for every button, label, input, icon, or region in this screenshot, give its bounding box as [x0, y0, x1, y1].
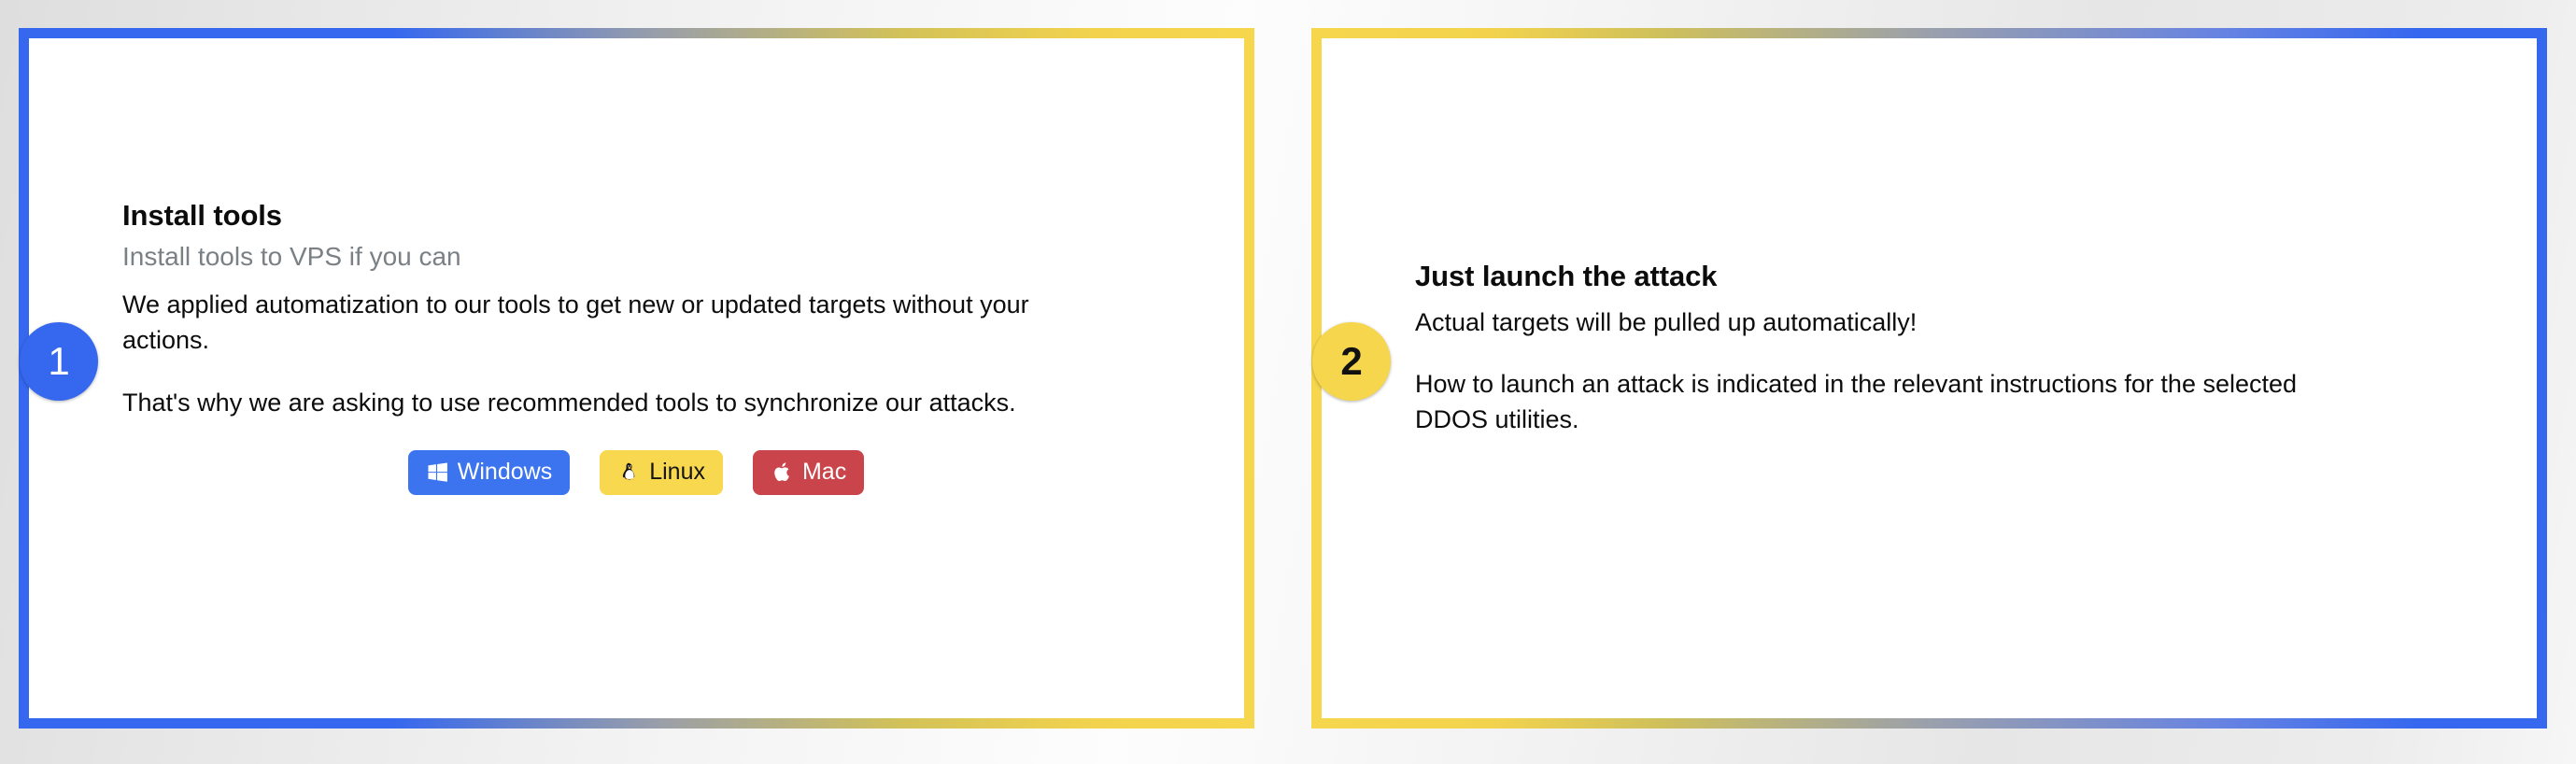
step-card-2-paragraph-2: How to launch an attack is indicated in …: [1415, 366, 2368, 438]
step-card-1-paragraph-2: That's why we are asking to use recommen…: [122, 385, 1066, 420]
step-card-2-paragraph-1: Actual targets will be pulled up automat…: [1415, 304, 2368, 340]
step-number-badge-2: 2: [1312, 322, 1391, 401]
linux-button-label: Linux: [649, 460, 705, 486]
windows-button[interactable]: Windows: [408, 450, 570, 495]
step-card-2-body: Just launch the attack Actual targets wi…: [1322, 38, 2537, 718]
step-card-2: Just launch the attack Actual targets wi…: [1311, 28, 2547, 729]
step-number-badge-1: 1: [20, 322, 98, 401]
step-card-1: Install tools Install tools to VPS if yo…: [19, 28, 1254, 729]
windows-button-label: Windows: [458, 460, 552, 486]
step-card-1-body: Install tools Install tools to VPS if yo…: [29, 38, 1244, 718]
step-card-1-subtitle: Install tools to VPS if you can: [122, 240, 1131, 274]
linux-tux-icon: [617, 460, 641, 484]
page-title: Install tools: [122, 197, 1131, 234]
step-card-2-content: Just launch the attack Actual targets wi…: [1415, 258, 2424, 438]
mac-button-label: Mac: [802, 460, 846, 486]
os-download-buttons: Windows: [122, 450, 1131, 495]
linux-button[interactable]: Linux: [600, 450, 723, 495]
step-card-1-paragraph-1: We applied automatization to our tools t…: [122, 287, 1066, 359]
step-card-1-content: Install tools Install tools to VPS if yo…: [122, 197, 1131, 495]
mac-button[interactable]: Mac: [753, 450, 864, 495]
windows-icon: [426, 460, 449, 484]
steps-stage: Install tools Install tools to VPS if yo…: [0, 0, 2576, 764]
apple-icon: [771, 460, 794, 484]
step-card-2-title: Just launch the attack: [1415, 258, 2424, 295]
